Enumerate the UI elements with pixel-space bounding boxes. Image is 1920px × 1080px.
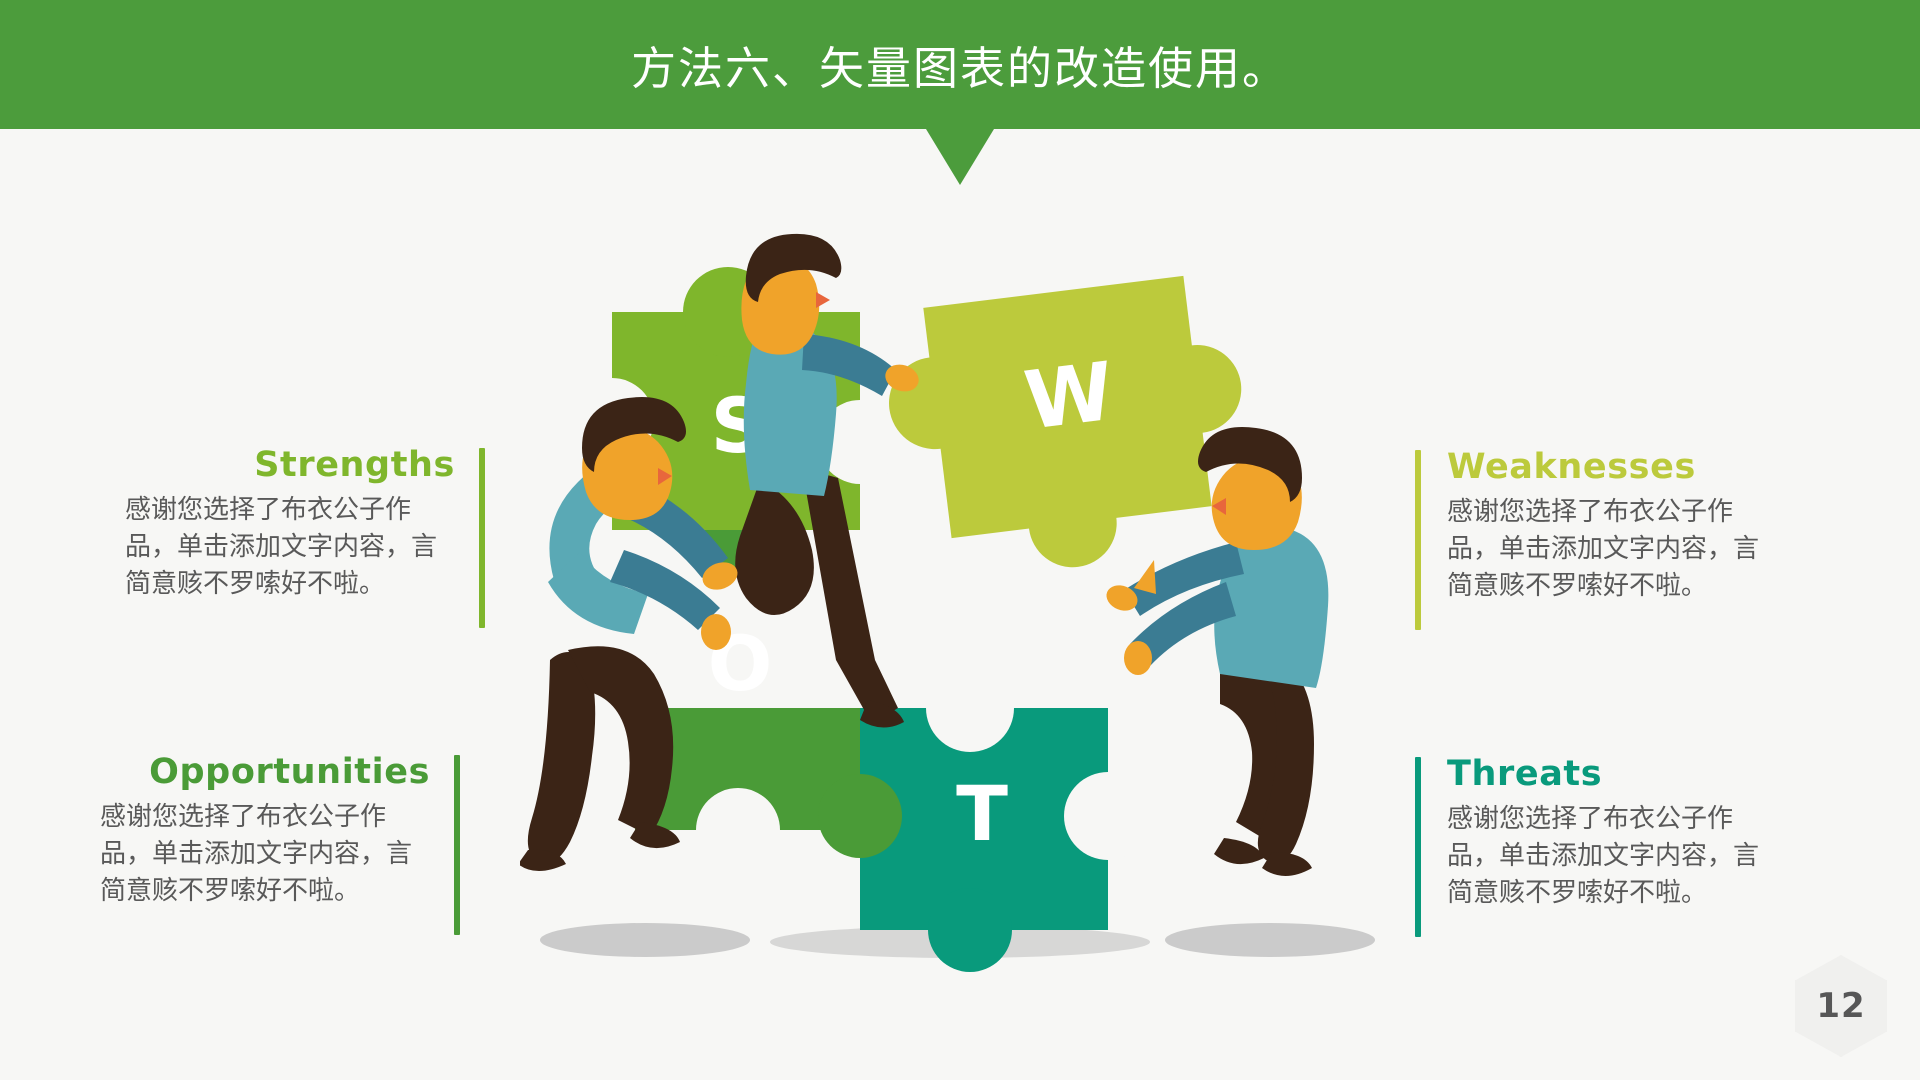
opportunities-text-inner: Opportunities 感谢您选择了布衣公子作品，单击添加文字内容，言简意赅… (100, 755, 454, 935)
strengths-body: 感谢您选择了布衣公子作品，单击添加文字内容，言简意赅不罗嗦好不啦。 (125, 492, 455, 603)
page-number-badge: 12 (1795, 955, 1887, 1057)
quadrant-text-opportunities: Opportunities 感谢您选择了布衣公子作品，单击添加文字内容，言简意赅… (100, 755, 460, 935)
puzzle-piece-weaknesses: W (878, 271, 1261, 588)
opportunities-accent-bar (454, 755, 460, 935)
weaknesses-heading: Weaknesses (1447, 450, 1696, 485)
quadrant-text-weaknesses: Weaknesses 感谢您选择了布衣公子作品，单击添加文字内容，言简意赅不罗嗦… (1415, 450, 1777, 630)
strengths-accent-bar (479, 448, 485, 628)
figure-right-foot-back (1214, 838, 1264, 864)
opportunities-heading: Opportunities (149, 755, 430, 790)
strengths-heading: Strengths (254, 448, 455, 483)
figure-left-hand-lower (701, 614, 731, 650)
puzzle-letter-T: T (956, 769, 1008, 858)
slide-canvas: 方法六、矢量图表的改造使用。 Strengths 感谢您选择了布衣公子作品，单击… (0, 0, 1920, 1080)
shadow-left (540, 923, 750, 957)
page-number: 12 (1795, 955, 1887, 1057)
puzzle-letter-W: W (1020, 345, 1119, 448)
strengths-text-inner: Strengths 感谢您选择了布衣公子作品，单击添加文字内容，言简意赅不罗嗦好… (125, 448, 479, 628)
weaknesses-body: 感谢您选择了布衣公子作品，单击添加文字内容，言简意赅不罗嗦好不啦。 (1447, 494, 1777, 605)
figure-right-hand-lower (1124, 641, 1152, 675)
shadow-right (1165, 923, 1375, 957)
slide-header: 方法六、矢量图表的改造使用。 (0, 0, 1920, 129)
threats-body: 感谢您选择了布衣公子作品，单击添加文字内容，言简意赅不罗嗦好不啦。 (1447, 801, 1777, 912)
opportunities-body: 感谢您选择了布衣公子作品，单击添加文字内容，言简意赅不罗嗦好不啦。 (100, 799, 430, 910)
figure-left-leg-back (528, 652, 595, 863)
threats-text-inner: Threats 感谢您选择了布衣公子作品，单击添加文字内容，言简意赅不罗嗦好不啦… (1421, 757, 1777, 937)
quadrant-text-strengths: Strengths 感谢您选择了布衣公子作品，单击添加文字内容，言简意赅不罗嗦好… (125, 448, 485, 628)
header-pointer-triangle (926, 129, 994, 185)
swot-puzzle-illustration: O S (520, 230, 1400, 980)
figure-top-foot (860, 700, 904, 728)
threats-heading: Threats (1447, 757, 1602, 792)
quadrant-text-threats: Threats 感谢您选择了布衣公子作品，单击添加文字内容，言简意赅不罗嗦好不啦… (1415, 757, 1777, 937)
weaknesses-text-inner: Weaknesses 感谢您选择了布衣公子作品，单击添加文字内容，言简意赅不罗嗦… (1421, 450, 1777, 630)
page-title: 方法六、矢量图表的改造使用。 (0, 0, 1920, 129)
figure-top-nose (816, 292, 830, 308)
